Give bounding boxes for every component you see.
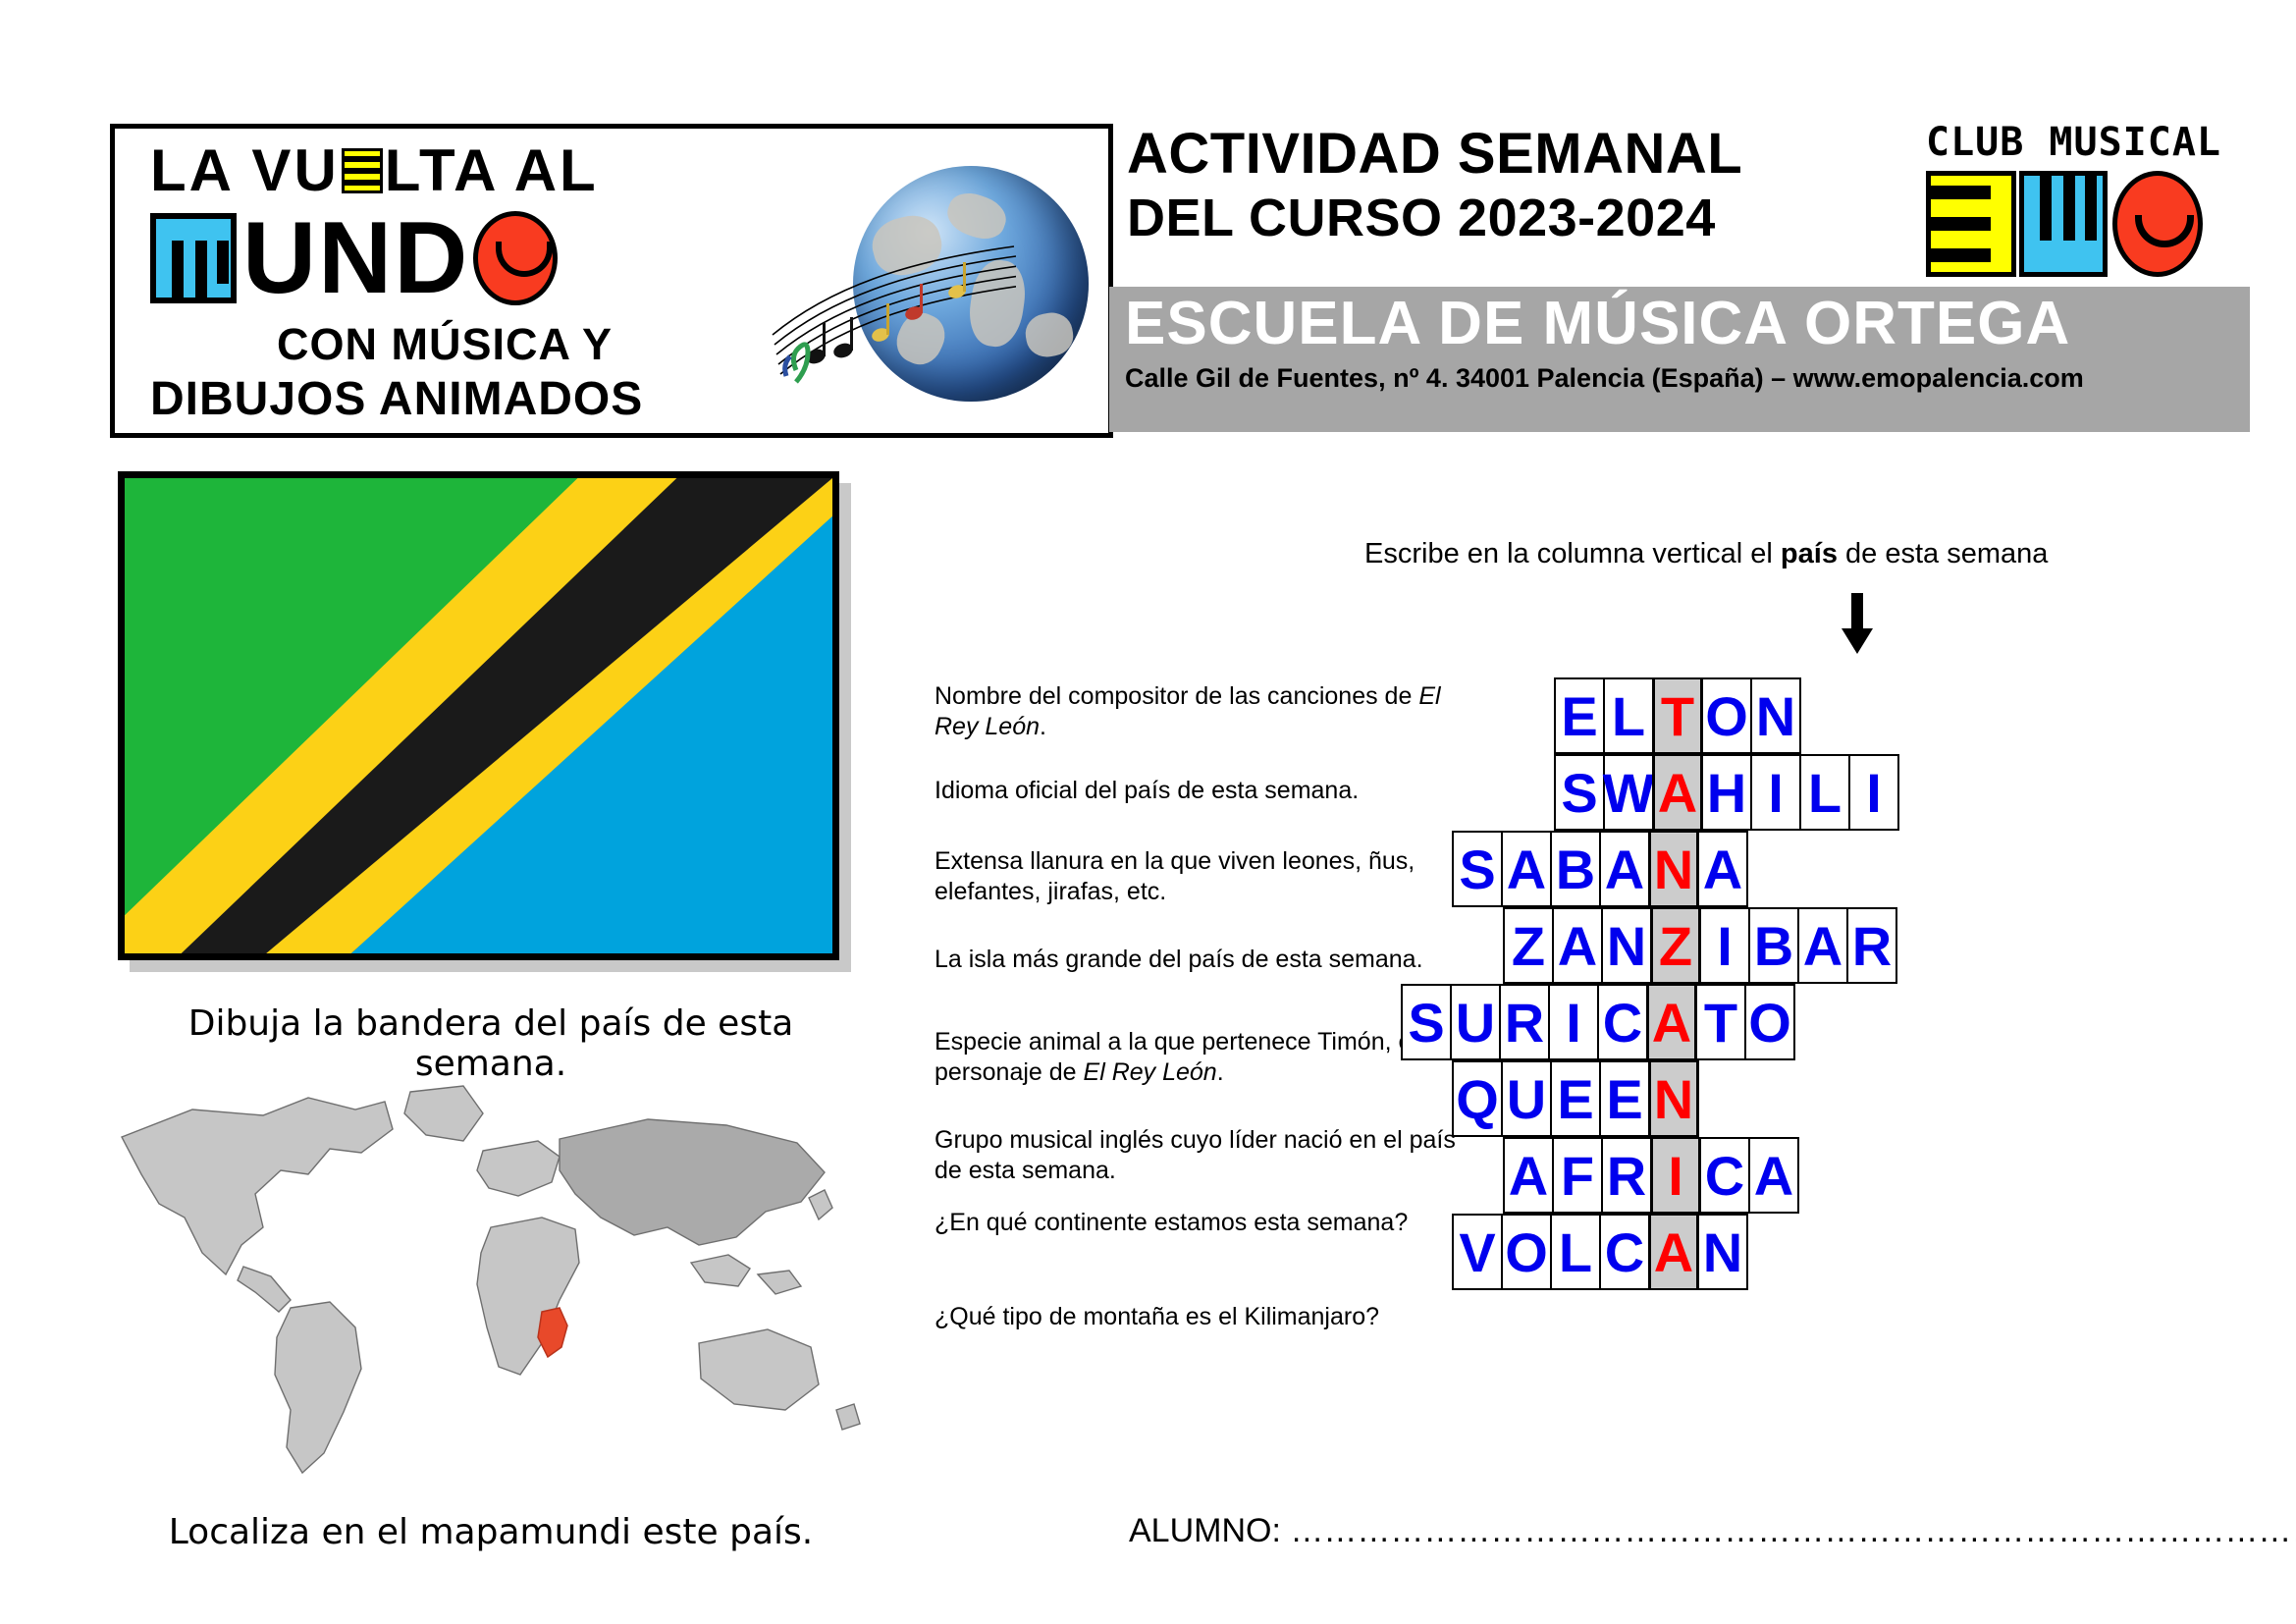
crossword-cell[interactable]: A [1648,1214,1699,1290]
crossword-cell[interactable]: U [1450,984,1501,1060]
activity-title-line1: ACTIVIDAD SEMANAL [1127,124,2001,185]
crossword-cell[interactable]: S [1452,831,1503,907]
crossword-cell[interactable]: N [1750,677,1801,754]
crossword-cell[interactable]: O [1701,677,1752,754]
crossword-cell[interactable]: C [1699,1137,1750,1214]
logo-line-con-musica: CON MÚSICA Y [150,319,739,370]
staff-e-icon [342,148,383,193]
crossword-cell[interactable]: E [1550,1060,1601,1137]
activity-title-block: ACTIVIDAD SEMANAL DEL CURSO 2023-2024 [1127,124,2001,271]
student-name-line[interactable]: ALUMNO: ……………………………………………………………………………………… [1129,1512,2296,1550]
logo-text-und: UND [242,207,469,309]
smiley-face-o-icon [473,211,558,305]
crossword-cell[interactable]: A [1697,831,1748,907]
logo-text-wrap: LA VU LTA AL UND CON MÚSICA Y DIBUJOS AN… [150,138,778,426]
vertical-column-instruction: Escribe en la columna vertical el país d… [1364,538,2179,570]
logo-text-lta-al: LTA AL [385,138,599,203]
crossword-cell[interactable]: R [1601,1137,1652,1214]
club-musical-emo-logo: CLUB MUSICAL [1926,120,2250,287]
clue-item: La isla más grande del país de esta sema… [934,945,1484,975]
crossword-cell[interactable]: I [1750,754,1801,831]
clue-item: Nombre del compositor de las canciones d… [934,681,1484,742]
logo-line-vuelta: LA VU LTA AL [150,138,778,203]
crossword-cell[interactable]: F [1552,1137,1603,1214]
crossword-cell[interactable]: S [1554,754,1605,831]
crossword-cell[interactable]: Z [1650,907,1701,984]
emo-letters-row [1926,171,2250,277]
crossword-cell[interactable]: A [1646,984,1697,1060]
crossword-row: ZANZIBAR [1505,907,1897,984]
school-name: ESCUELA DE MÚSICA ORTEGA [1109,287,2250,361]
crossword-cell[interactable]: E [1599,1060,1650,1137]
crossword-cell[interactable]: N [1601,907,1652,984]
tanzania-highlight-marker [538,1308,567,1357]
alumno-label: ALUMNO: [1129,1512,1281,1549]
crossword-cell[interactable]: L [1550,1214,1601,1290]
crossword-cell[interactable]: H [1701,754,1752,831]
crossword-cell[interactable]: L [1603,677,1654,754]
clue-item: Grupo musical inglés cuyo líder nació en… [934,1125,1484,1186]
crossword-cell[interactable]: W [1603,754,1654,831]
school-address: Calle Gil de Fuentes, nº 4. 34001 Palenc… [1109,361,2250,395]
crossword-row: VOLCAN [1454,1214,1748,1290]
crossword-cell[interactable]: N [1697,1214,1748,1290]
clue-item: Extensa llanura en la que viven leones, … [934,846,1484,907]
crossword-cell[interactable]: I [1848,754,1899,831]
crossword-cell[interactable]: S [1401,984,1452,1060]
emo-staff-e-icon [1926,171,2016,277]
crossword-cell[interactable]: A [1552,907,1603,984]
crossword-row: SABANA [1454,831,1748,907]
crossword-row: SURICATO [1403,984,1795,1060]
globe-with-music-notes-graphic [771,133,1095,437]
crossword-cell[interactable]: R [1846,907,1897,984]
crossword-cell[interactable]: E [1554,677,1605,754]
crossword-cell[interactable]: I [1650,1137,1701,1214]
crossword-cell[interactable]: A [1501,831,1552,907]
crossword-cell[interactable]: R [1499,984,1550,1060]
alumno-dots: ……………………………………………………………………………………… [1290,1512,2296,1549]
crossword-cell[interactable]: Z [1503,907,1554,984]
flag-caption: Dibuja la bandera del país de esta seman… [118,1003,864,1084]
crossword-grid[interactable]: ELTONSWAHILISABANAZANZIBARSURICATOQUEENA… [1454,677,2239,1365]
logo-line-mundo: UND [150,207,778,309]
crossword-cell[interactable]: O [1744,984,1795,1060]
instruction-text-before: Escribe en la columna vertical el [1364,538,1781,569]
crossword-cell[interactable]: C [1599,1214,1650,1290]
crossword-cell[interactable]: C [1597,984,1648,1060]
logo-line-dibujos: DIBUJOS ANIMADOS [150,372,759,426]
crossword-cell[interactable]: T [1652,677,1703,754]
instruction-text-after: de esta semana [1838,538,2048,569]
clue-item: Idioma oficial del país de esta semana. [934,776,1484,806]
crossword-cell[interactable]: A [1748,1137,1799,1214]
crossword-row: SWAHILI [1556,754,1899,831]
crossword-cell[interactable]: B [1748,907,1799,984]
crossword-cell[interactable]: L [1799,754,1850,831]
clue-item: ¿En qué continente estamos esta semana? [934,1208,1484,1238]
emo-piano-m-icon [2019,171,2108,277]
crossword-cell[interactable]: I [1699,907,1750,984]
map-caption: Localiza en el mapamundi este país. [108,1512,874,1552]
crossword-row: QUEEN [1454,1060,1699,1137]
school-banner: ESCUELA DE MÚSICA ORTEGA Calle Gil de Fu… [1109,287,2250,432]
tanzania-flag-image [118,471,839,960]
crossword-cell[interactable]: A [1503,1137,1554,1214]
crossword-cell[interactable]: A [1599,831,1650,907]
music-staff-swoop-icon [771,241,1016,388]
crossword-cell[interactable]: U [1501,1060,1552,1137]
piano-keys-m-icon [150,213,237,303]
logo-text-la-vu: LA VU [150,138,340,203]
down-arrow-icon [1838,593,1877,654]
crossword-cell[interactable]: T [1695,984,1746,1060]
crossword-cell[interactable]: N [1648,831,1699,907]
emo-smiley-o-icon [2112,171,2203,277]
crossword-row: ELTON [1556,677,1801,754]
crossword-cell[interactable]: B [1550,831,1601,907]
crossword-cell[interactable]: N [1648,1060,1699,1137]
crossword-cell[interactable]: A [1797,907,1848,984]
activity-title-line2: DEL CURSO 2023-2024 [1127,189,2001,247]
crossword-cell[interactable]: I [1548,984,1599,1060]
crossword-cell[interactable]: Q [1452,1060,1503,1137]
program-logo-box: LA VU LTA AL UND CON MÚSICA Y DIBUJOS AN… [110,124,1113,438]
crossword-cell[interactable]: V [1452,1214,1503,1290]
crossword-cell[interactable]: O [1501,1214,1552,1290]
crossword-cell[interactable]: A [1652,754,1703,831]
crossword-row: AFRICA [1505,1137,1799,1214]
clue-item: ¿Qué tipo de montaña es el Kilimanjaro? [934,1302,1484,1332]
instruction-text-bold: país [1781,538,1838,569]
world-map-image [98,1080,883,1492]
club-musical-label: CLUB MUSICAL [1926,120,2250,165]
